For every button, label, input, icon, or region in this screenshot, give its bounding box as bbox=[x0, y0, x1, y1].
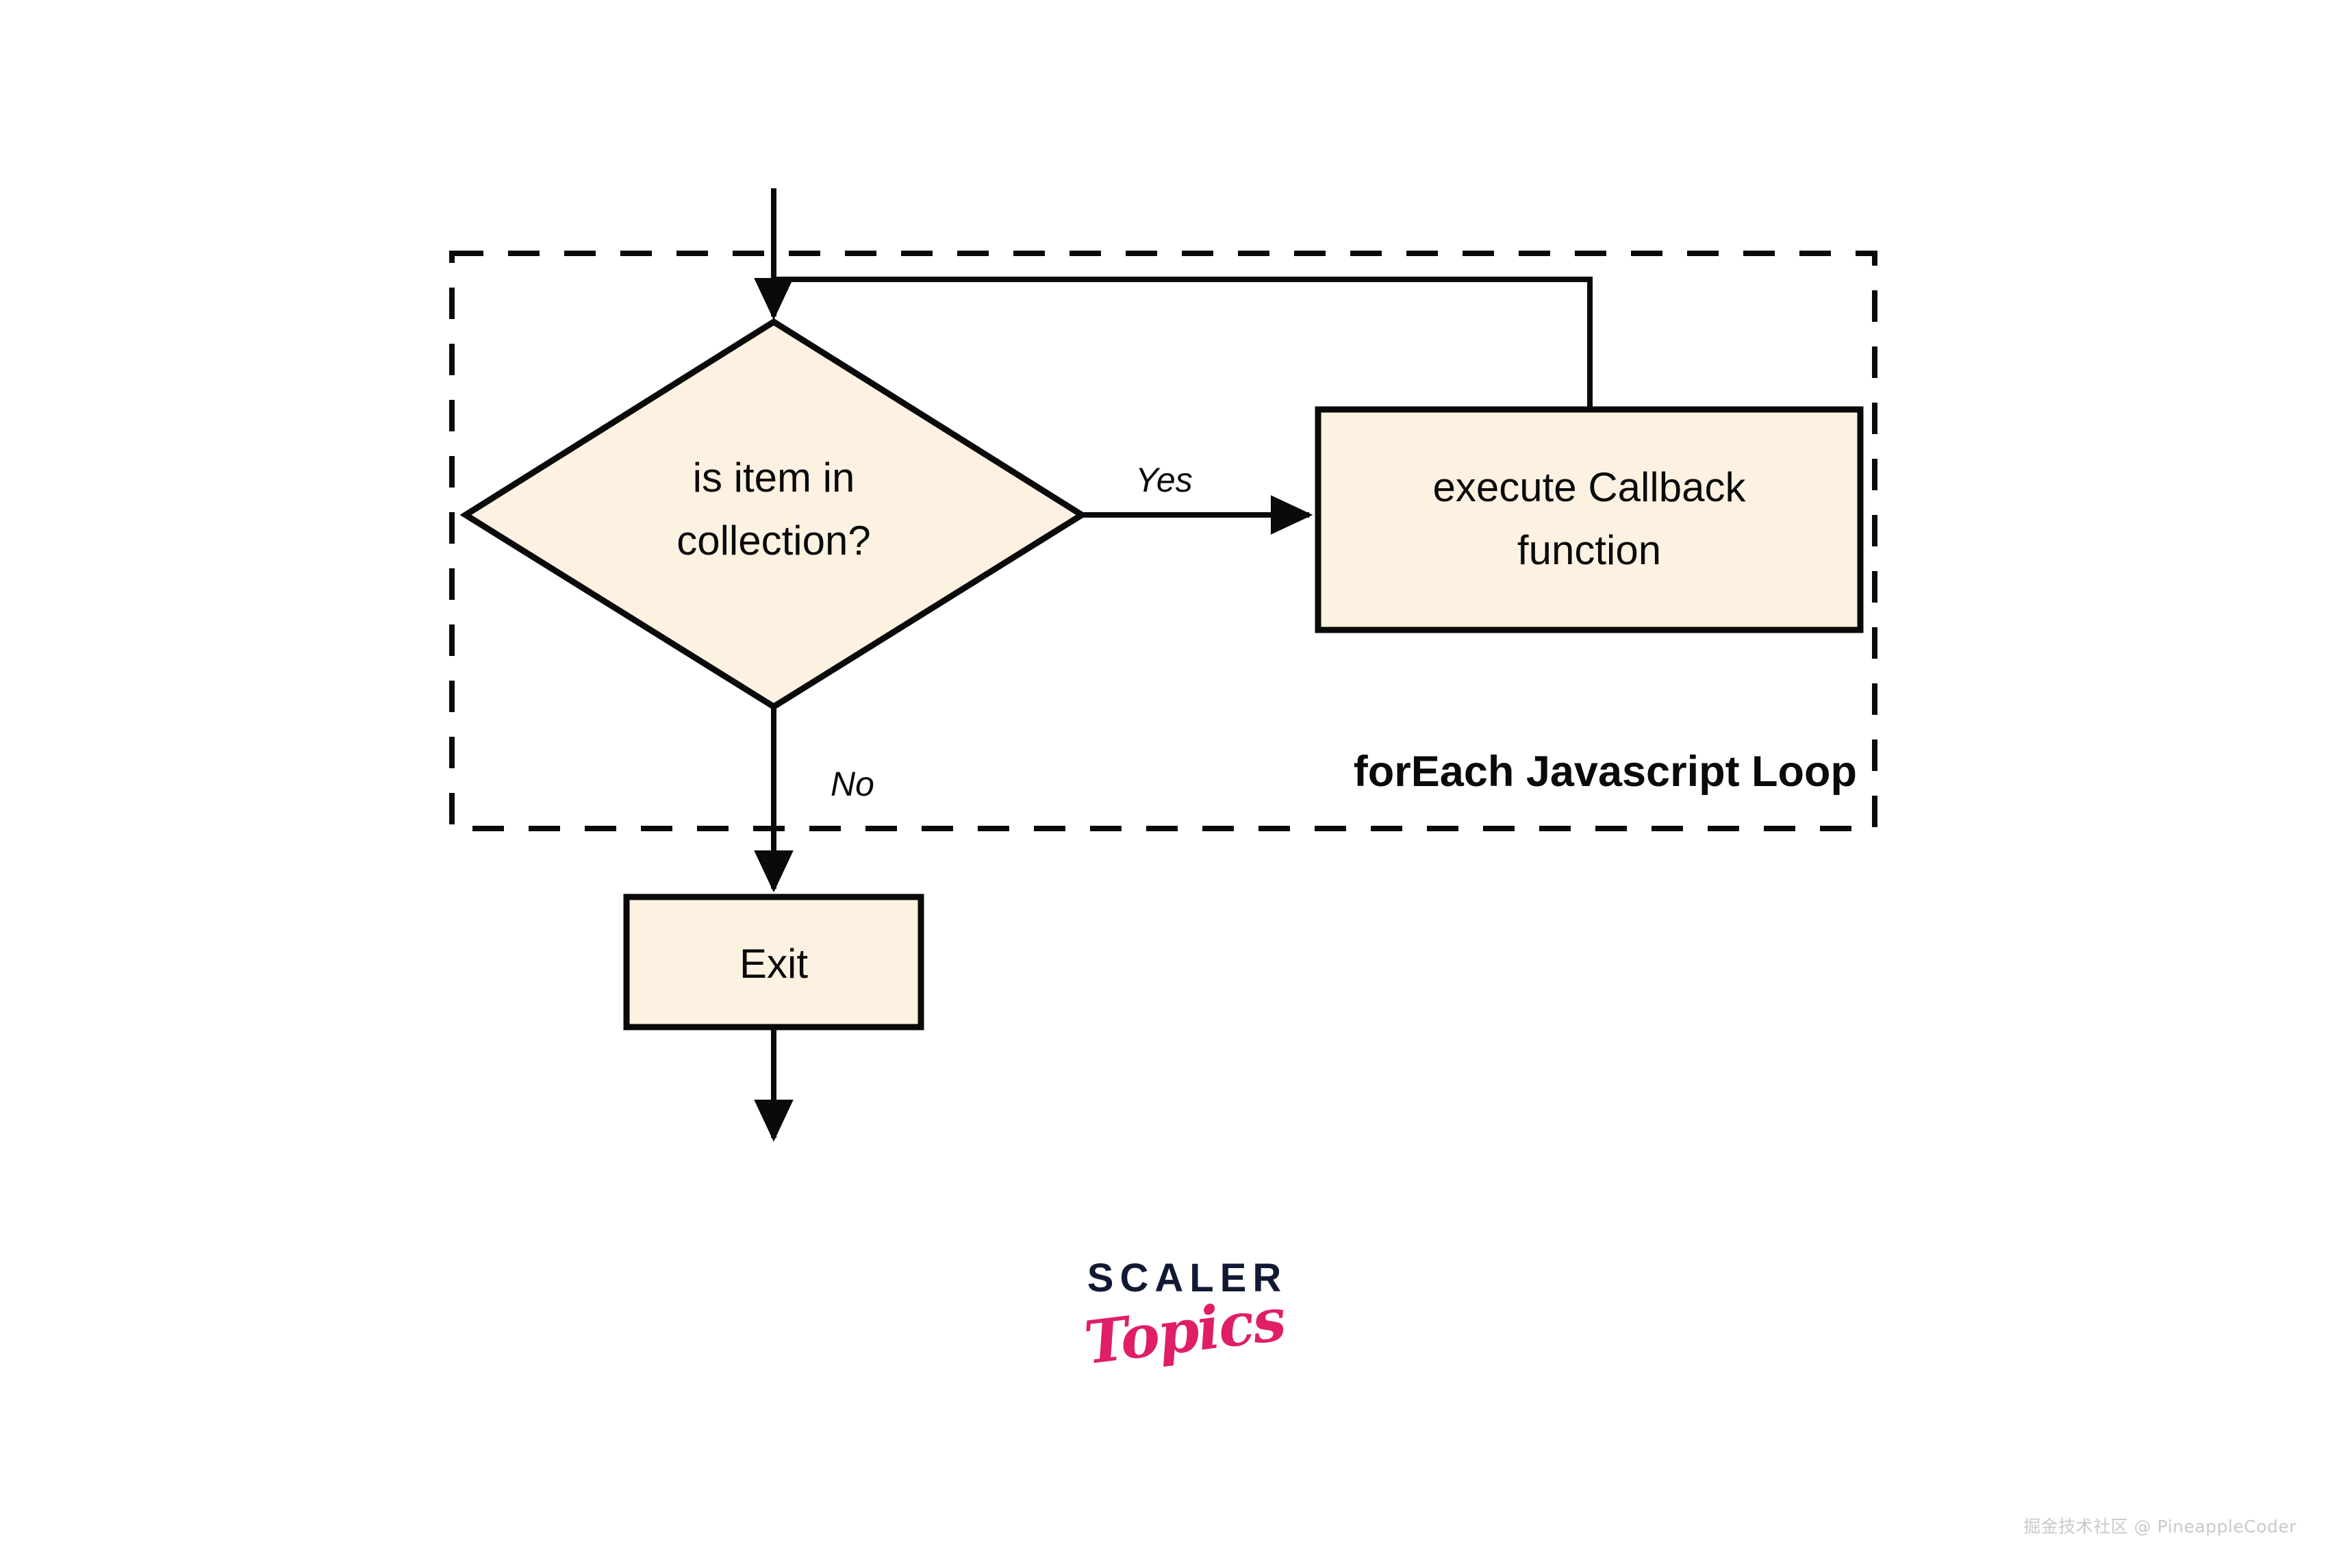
process-node-label-line-1: execute Callback bbox=[1433, 464, 1747, 510]
process-node-execute-callback-function[interactable] bbox=[1318, 409, 1860, 630]
terminal-node-exit-label: Exit bbox=[739, 941, 808, 987]
watermark-text: 掘金技术社区 @ PineappleCoder bbox=[2023, 1513, 2297, 1538]
yes-edge-label: Yes bbox=[1135, 461, 1192, 499]
diagram-canvas: is item in collection? Yes execute Callb… bbox=[0, 0, 2328, 1568]
foreach-loop-group-label: forEach Javascript Loop bbox=[1354, 748, 1857, 796]
decision-node-label-line-2: collection? bbox=[676, 518, 871, 564]
brand-script-topics: Topics bbox=[1038, 1285, 1330, 1379]
decision-node-is-item-in-collection[interactable] bbox=[466, 322, 1082, 707]
decision-node-label-line-1: is item in bbox=[693, 455, 855, 501]
process-node-label-line-2: function bbox=[1517, 527, 1661, 573]
no-edge-label: No bbox=[831, 765, 874, 803]
loopback-edge bbox=[776, 279, 1590, 409]
scaler-topics-logo: SCALER Topics bbox=[1041, 1259, 1328, 1437]
